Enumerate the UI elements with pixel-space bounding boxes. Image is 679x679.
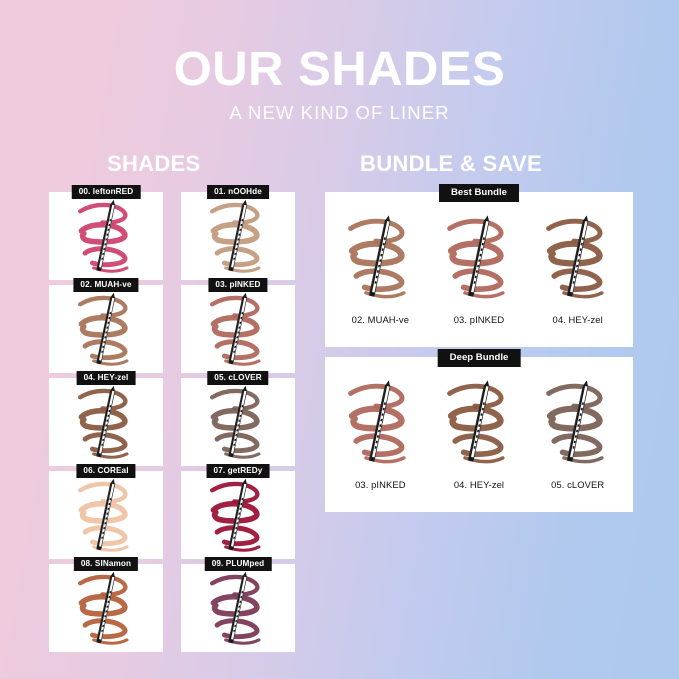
- shade-swatch: [49, 471, 163, 559]
- shade-swatch-drawing: [444, 210, 514, 310]
- shade-card[interactable]: 01. nOOHde: [181, 192, 295, 280]
- shade-name-badge: 06. COREal: [76, 464, 135, 478]
- section-title-shades: SHADES: [107, 151, 201, 177]
- pencil-icon: [97, 199, 116, 271]
- bundle-item-label: 04. HEY-zel: [553, 314, 603, 325]
- shade-card[interactable]: 03. pINKED: [181, 285, 295, 373]
- product-shades-infographic: OUR SHADES A NEW KIND OF LINER SHADES BU…: [0, 0, 679, 679]
- shade-swatch-drawing: [75, 292, 137, 372]
- pencil-icon: [370, 380, 392, 462]
- shade-swatch-drawing: [207, 478, 269, 558]
- bundle-item[interactable]: 03. pINKED: [332, 373, 428, 490]
- pencil-icon: [97, 385, 116, 457]
- shade-swatch: [49, 378, 163, 466]
- shade-swatch-drawing: [207, 385, 269, 465]
- swatch-stroke: [212, 205, 257, 223]
- swatch-stroke: [548, 386, 599, 406]
- shade-name-badge: 00. leftonRED: [72, 185, 141, 199]
- shade-swatch-drawing: [345, 210, 415, 310]
- shade-card[interactable]: 09. PLUMped: [181, 564, 295, 652]
- bundle-item[interactable]: 04. HEY-zel: [431, 373, 527, 490]
- shade-swatch: [181, 471, 295, 559]
- swatch-stroke: [212, 298, 257, 316]
- shade-swatch: [49, 192, 163, 280]
- shade-name-badge: 02. MUAH-ve: [73, 278, 138, 292]
- swatch-stroke: [450, 386, 501, 406]
- shade-name-badge: 09. PLUMped: [205, 557, 272, 571]
- swatch-stroke: [80, 391, 125, 409]
- shade-name-badge: 07. getREDy: [207, 464, 270, 478]
- bundle-section: Best Bundle02. MUAH-ve03. pINKED04. HEY-…: [325, 192, 633, 512]
- shade-card[interactable]: 04. HEY-zel: [49, 378, 163, 466]
- pencil-icon: [229, 199, 248, 271]
- shade-swatch-drawing: [543, 375, 613, 475]
- shade-card[interactable]: 06. COREal: [49, 471, 163, 559]
- swatch-stroke: [212, 484, 257, 502]
- pencil-icon: [370, 215, 392, 297]
- swatch-stroke: [80, 577, 125, 595]
- pencil-icon: [468, 215, 490, 297]
- swatch-stroke: [351, 386, 402, 406]
- swatch-stroke: [450, 221, 501, 241]
- pencil-icon: [567, 215, 589, 297]
- shade-swatch: [181, 285, 295, 373]
- shade-name-badge: 08. SINamon: [74, 557, 138, 571]
- pencil-icon: [229, 478, 248, 550]
- shade-name-badge: 05. cLOVER: [207, 371, 268, 385]
- bundle-item[interactable]: 02. MUAH-ve: [332, 208, 428, 325]
- swatch-stroke: [212, 577, 257, 595]
- shade-swatch-drawing: [75, 385, 137, 465]
- swatch-stroke: [351, 221, 402, 241]
- shade-card[interactable]: 00. leftonRED: [49, 192, 163, 280]
- bundle-item-label: 02. MUAH-ve: [352, 314, 409, 325]
- section-title-bundle: BUNDLE & SAVE: [360, 151, 542, 177]
- bundle-panel[interactable]: Deep Bundle03. pINKED04. HEY-zel05. cLOV…: [325, 357, 633, 512]
- pencil-icon: [567, 380, 589, 462]
- bundle-item-label: 03. pINKED: [454, 314, 505, 325]
- shade-swatch-drawing: [543, 210, 613, 310]
- shade-name-badge: 01. nOOHde: [207, 185, 269, 199]
- shade-swatch: [181, 192, 295, 280]
- shade-swatch-drawing: [207, 292, 269, 372]
- swatch-stroke: [548, 221, 599, 241]
- bundle-item-label: 05. cLOVER: [551, 479, 604, 490]
- shade-swatch: [49, 285, 163, 373]
- bundle-items-row: 02. MUAH-ve03. pINKED04. HEY-zel: [331, 208, 627, 339]
- bundle-panel[interactable]: Best Bundle02. MUAH-ve03. pINKED04. HEY-…: [325, 192, 633, 347]
- pencil-icon: [229, 385, 248, 457]
- bundle-item-label: 03. pINKED: [355, 479, 406, 490]
- bundle-items-row: 03. pINKED04. HEY-zel05. cLOVER: [331, 373, 627, 504]
- shade-card[interactable]: 05. cLOVER: [181, 378, 295, 466]
- bundle-item-label: 04. HEY-zel: [454, 479, 504, 490]
- swatch-stroke: [80, 205, 125, 223]
- header: OUR SHADES A NEW KIND OF LINER: [0, 46, 679, 124]
- shade-swatch: [49, 564, 163, 652]
- pencil-icon: [229, 571, 248, 643]
- shade-swatch: [181, 378, 295, 466]
- pencil-icon: [97, 571, 116, 643]
- pencil-icon: [97, 292, 116, 364]
- shade-card[interactable]: 07. getREDy: [181, 471, 295, 559]
- shade-name-badge: 04. HEY-zel: [77, 371, 136, 385]
- bundle-item[interactable]: 05. cLOVER: [530, 373, 626, 490]
- bundle-name-badge: Deep Bundle: [438, 349, 521, 367]
- pencil-icon: [229, 292, 248, 364]
- bundle-item[interactable]: 04. HEY-zel: [530, 208, 626, 325]
- bundle-item[interactable]: 03. pINKED: [431, 208, 527, 325]
- shade-swatch-drawing: [207, 199, 269, 279]
- shade-card[interactable]: 02. MUAH-ve: [49, 285, 163, 373]
- shade-swatch-drawing: [75, 478, 137, 558]
- shade-card[interactable]: 08. SINamon: [49, 564, 163, 652]
- shade-swatch-drawing: [207, 571, 269, 651]
- swatch-stroke: [212, 391, 257, 409]
- pencil-icon: [468, 380, 490, 462]
- page-subtitle: A NEW KIND OF LINER: [0, 102, 679, 124]
- swatch-stroke: [80, 298, 125, 316]
- shades-grid: 00. leftonRED01. nOOHde02. MUAH-ve03. pI…: [49, 192, 295, 652]
- shade-swatch-drawing: [444, 375, 514, 475]
- page-title: OUR SHADES: [0, 46, 679, 94]
- pencil-icon: [97, 478, 116, 550]
- shade-swatch-drawing: [75, 571, 137, 651]
- swatch-stroke: [80, 484, 125, 502]
- bundle-name-badge: Best Bundle: [439, 184, 519, 202]
- shade-swatch-drawing: [345, 375, 415, 475]
- shade-name-badge: 03. pINKED: [208, 278, 267, 292]
- shade-swatch-drawing: [75, 199, 137, 279]
- shade-swatch: [181, 564, 295, 652]
